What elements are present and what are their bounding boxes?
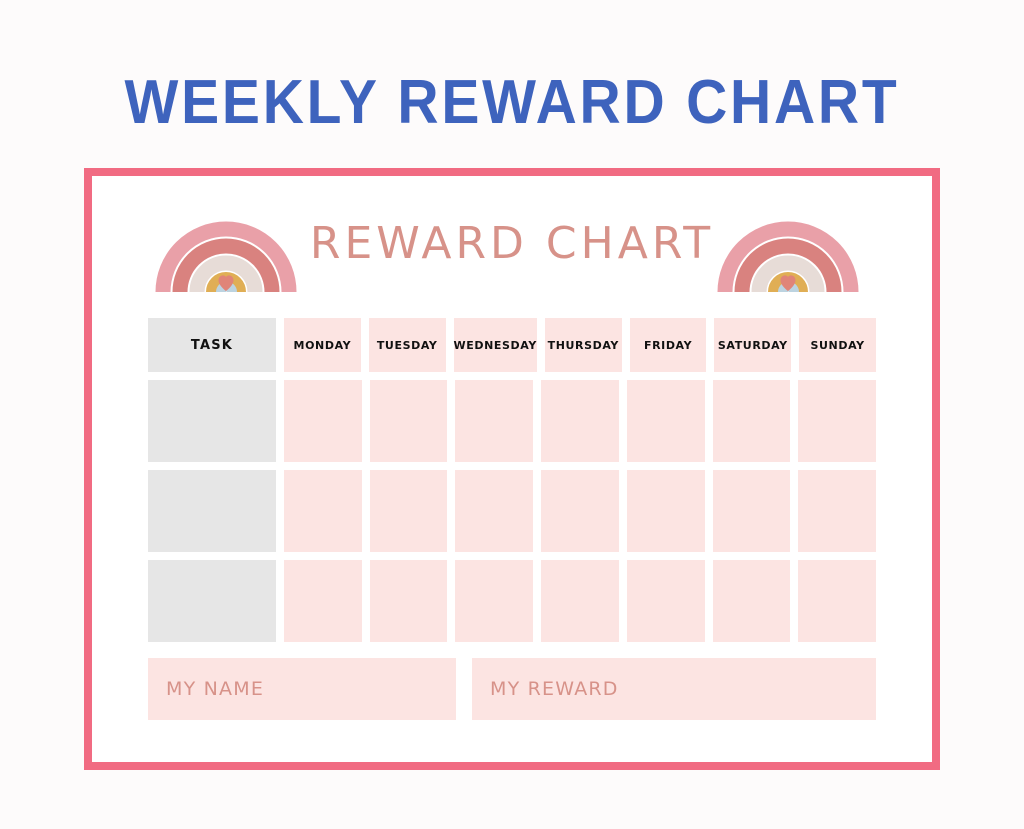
page-title: WEEKLY REWARD CHART [41,72,983,134]
day-cell[interactable] [455,560,533,642]
header-cell-thursday: THURSDAY [545,318,622,372]
header-label-friday: FRIDAY [644,339,692,352]
day-cell[interactable] [370,470,448,552]
chart-footer: MY NAME MY REWARD [148,658,876,720]
header-label-task: TASK [191,338,233,353]
header-cell-sunday: SUNDAY [799,318,876,372]
day-cell[interactable] [370,560,448,642]
header-label-tuesday: TUESDAY [377,339,438,352]
day-cell[interactable] [627,560,705,642]
task-cell[interactable] [148,470,276,552]
day-cell[interactable] [284,470,362,552]
chart-inner: REWARD CHART [92,176,932,762]
header-cell-wednesday: WEDNESDAY [454,318,537,372]
day-cell[interactable] [541,470,619,552]
header-label-monday: MONDAY [294,339,352,352]
header-cell-saturday: SATURDAY [714,318,791,372]
header-cell-monday: MONDAY [284,318,361,372]
header-label-thursday: THURSDAY [548,339,619,352]
chart-frame: REWARD CHART [84,168,940,770]
day-cell[interactable] [455,380,533,462]
day-cell[interactable] [627,380,705,462]
my-reward-field[interactable]: MY REWARD [472,658,876,720]
day-cell[interactable] [284,560,362,642]
day-cell[interactable] [798,470,876,552]
day-cell[interactable] [713,560,791,642]
table-row [148,470,876,552]
header-cell-friday: FRIDAY [630,318,707,372]
my-name-field[interactable]: MY NAME [148,658,456,720]
day-cell[interactable] [541,560,619,642]
chart-header-band: REWARD CHART [92,188,932,306]
day-cell[interactable] [455,470,533,552]
table-header-row: TASK MONDAY TUESDAY WEDNESDAY THURSDAY F… [148,318,876,372]
day-cell[interactable] [284,380,362,462]
header-cell-task: TASK [148,318,276,372]
day-cell[interactable] [370,380,448,462]
task-cell[interactable] [148,560,276,642]
day-cell[interactable] [713,380,791,462]
header-label-sunday: SUNDAY [810,339,864,352]
table-row [148,560,876,642]
day-cell[interactable] [798,560,876,642]
day-cell[interactable] [627,470,705,552]
table-row [148,380,876,462]
day-cell[interactable] [798,380,876,462]
day-cell[interactable] [713,470,791,552]
header-cell-tuesday: TUESDAY [369,318,446,372]
rainbow-icon-right [717,202,859,292]
header-label-wednesday: WEDNESDAY [454,339,537,352]
header-label-saturday: SATURDAY [718,339,788,352]
my-name-label: MY NAME [166,678,264,700]
my-reward-label: MY REWARD [490,678,619,700]
day-cell[interactable] [541,380,619,462]
reward-table: TASK MONDAY TUESDAY WEDNESDAY THURSDAY F… [148,318,876,650]
task-cell[interactable] [148,380,276,462]
